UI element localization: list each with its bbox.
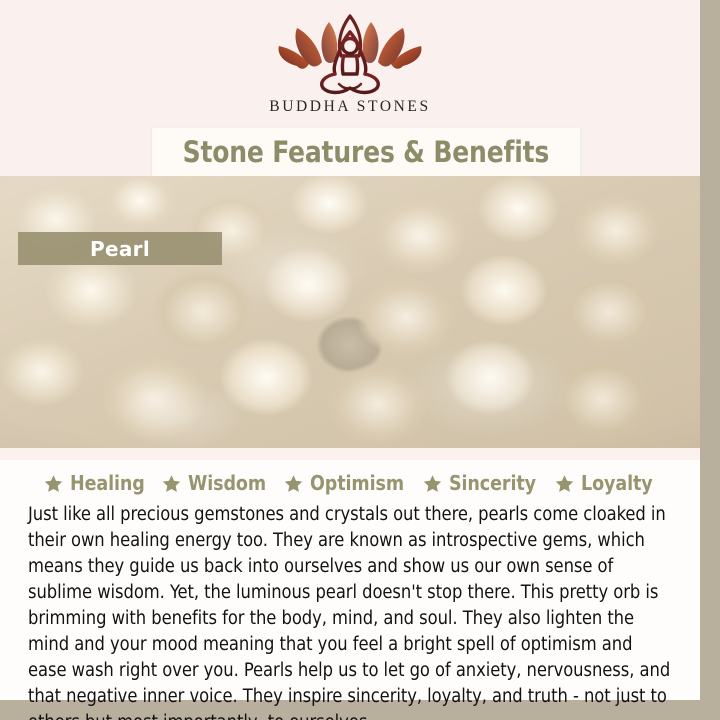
star-icon — [423, 474, 442, 493]
benefits-list: Healing Wisdom Optimism — [0, 460, 700, 500]
benefit-label: Healing — [70, 471, 145, 495]
stone-photo — [0, 176, 700, 448]
benefit-label: Loyalty — [581, 471, 653, 495]
benefit-item-optimism: Optimism — [284, 471, 409, 495]
stone-name: Pearl — [90, 237, 150, 261]
info-card: BUDDHA STONES Stone Features & Benefits … — [0, 0, 700, 700]
stone-description: Just like all precious gemstones and cry… — [28, 502, 676, 720]
stone-photo-vignette — [0, 176, 700, 448]
benefit-label: Sincerity — [449, 471, 536, 495]
benefit-item-healing: Healing — [44, 471, 149, 495]
stone-name-badge: Pearl — [18, 232, 222, 265]
brand-logo[interactable]: BUDDHA STONES — [0, 14, 700, 116]
outer-frame: BUDDHA STONES Stone Features & Benefits … — [0, 0, 720, 720]
star-icon — [555, 474, 574, 493]
benefit-item-wisdom: Wisdom — [162, 471, 270, 495]
section-title-banner: Stone Features & Benefits — [152, 128, 580, 176]
photo-divider-strip — [0, 448, 700, 460]
benefit-item-loyalty: Loyalty — [555, 471, 656, 495]
benefit-item-sincerity: Sincerity — [423, 471, 541, 495]
lotus-meditation-logo-icon — [275, 14, 425, 96]
benefit-label: Optimism — [310, 471, 404, 495]
brand-name: BUDDHA STONES — [0, 98, 700, 116]
star-icon — [162, 474, 181, 493]
stone-info-body: Healing Wisdom Optimism — [0, 460, 700, 700]
star-icon — [44, 474, 63, 493]
page-title: Stone Features & Benefits — [183, 135, 549, 169]
benefit-label: Wisdom — [188, 471, 266, 495]
star-icon — [284, 474, 303, 493]
